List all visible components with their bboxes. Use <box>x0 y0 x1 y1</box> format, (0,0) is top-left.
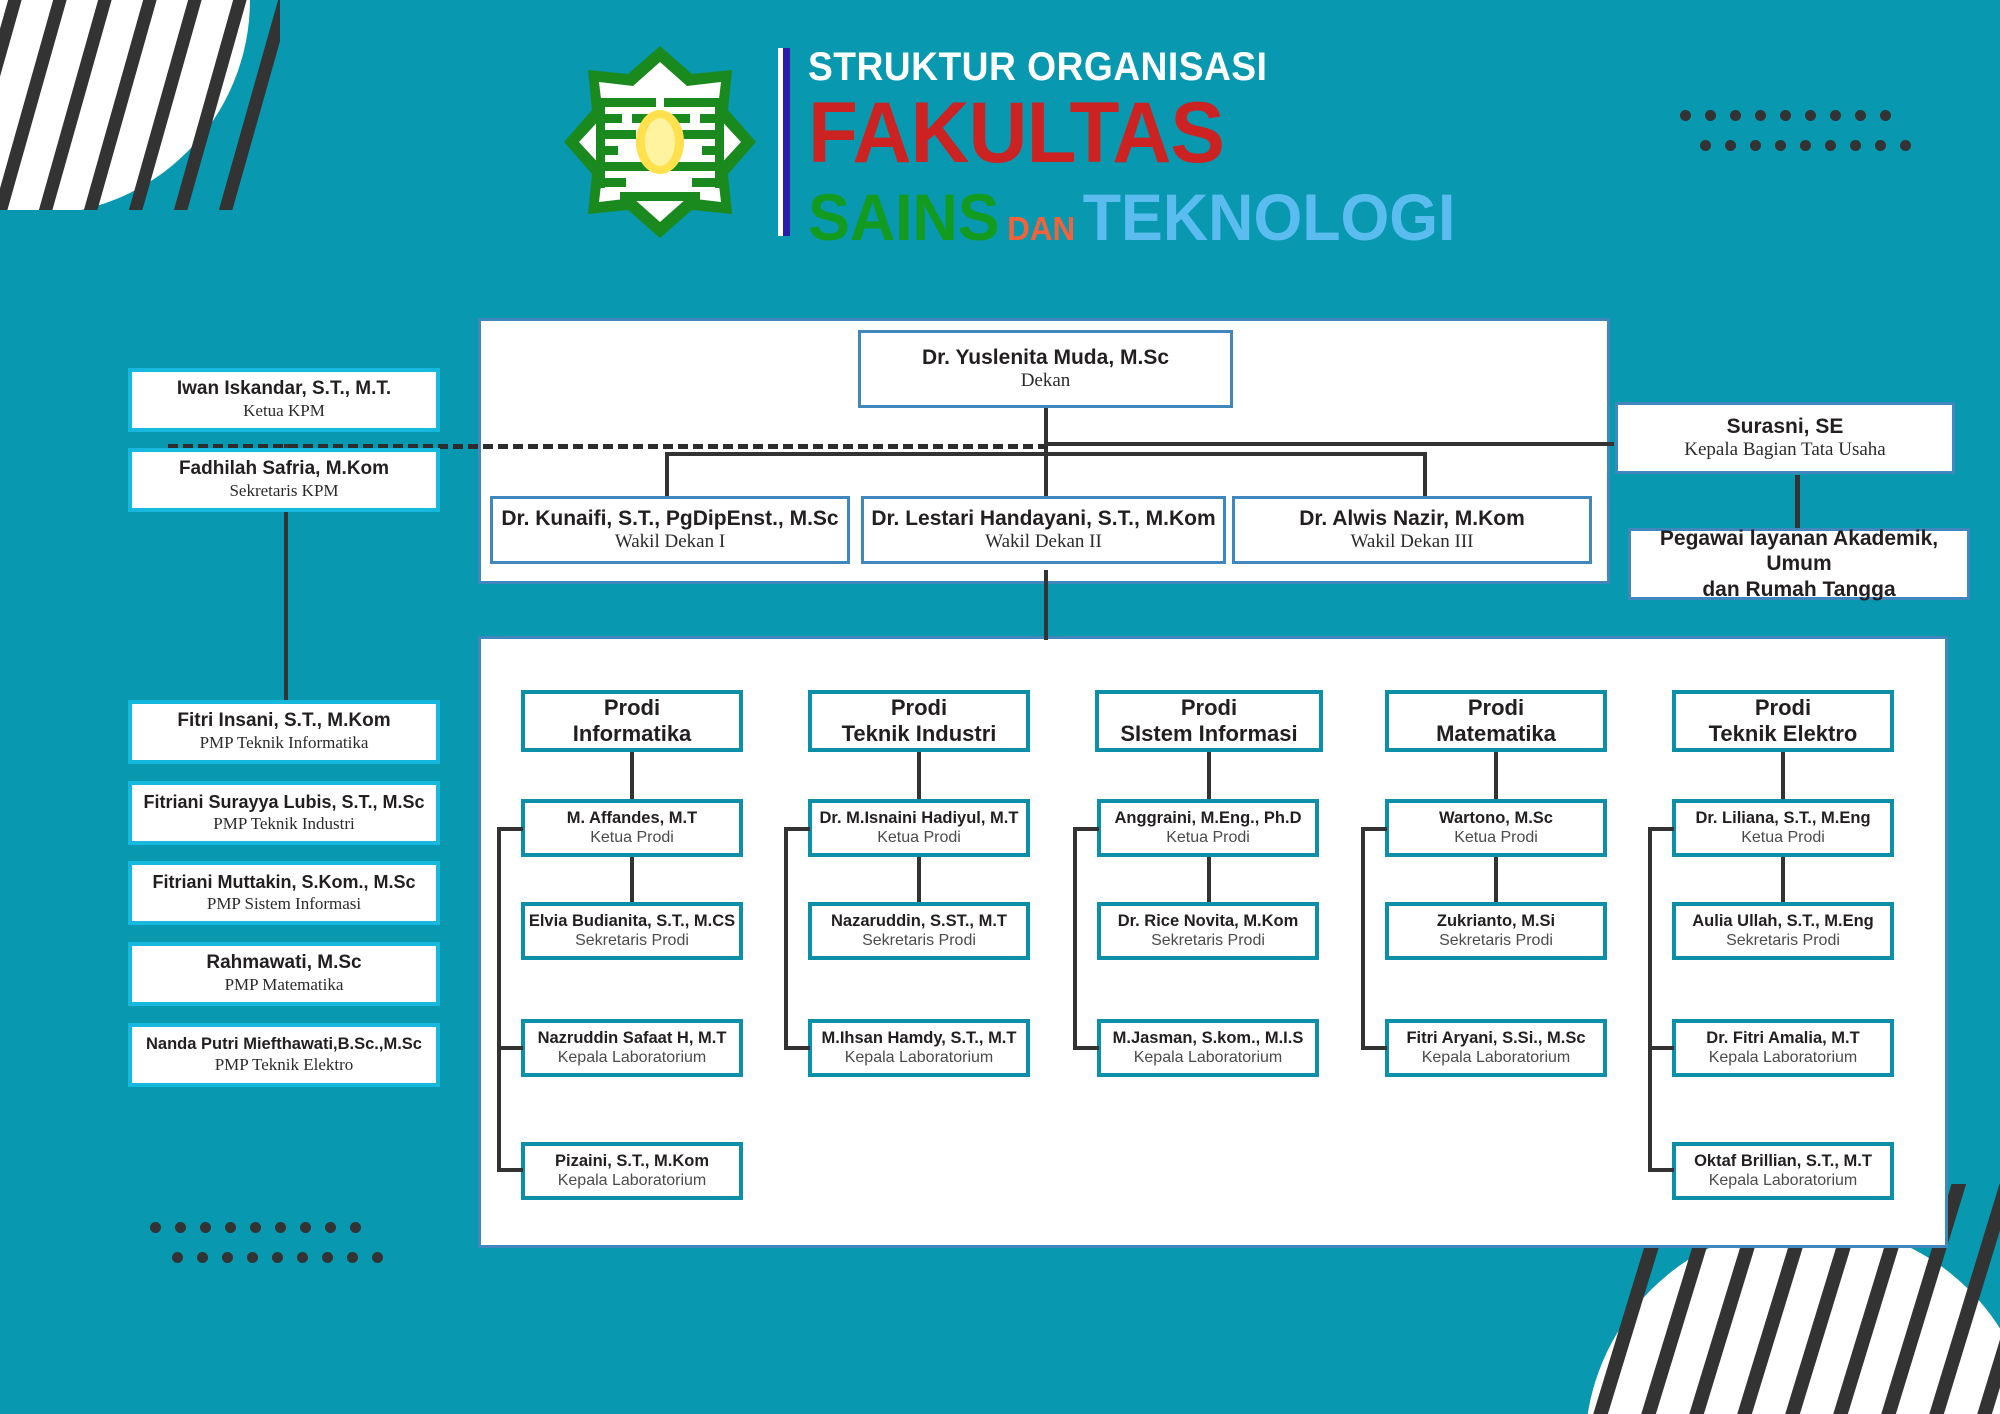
decorative-dot <box>372 1252 383 1263</box>
decorative-dot <box>1730 110 1741 121</box>
node-p0s0-name: M. Affandes, M.T <box>567 809 697 829</box>
node-prodi4-ketua[interactable]: Dr. Liliana, S.T., M.Eng Ketua Prodi <box>1672 799 1894 857</box>
poster-header: STRUKTUR ORGANISASI FAKULTAS SAINS DAN T… <box>560 42 1490 250</box>
decorative-dot <box>325 1222 336 1233</box>
decorative-dot <box>1705 110 1716 121</box>
decorative-dot <box>225 1222 236 1233</box>
connector-prodi1-spine-top <box>784 827 810 831</box>
node-tata-usaha-name: Surasni, SE <box>1727 414 1844 439</box>
node-p1s2-name: M.Ihsan Hamdy, S.T., M.T <box>822 1029 1017 1049</box>
prodi-2-title1: Prodi <box>1181 695 1237 721</box>
node-prodi0-lab1[interactable]: Nazruddin Safaat H, M.T Kepala Laborator… <box>521 1019 743 1077</box>
uin-suska-riau-logo-icon <box>560 42 760 242</box>
node-prodi1-lab1[interactable]: M.Ihsan Hamdy, S.T., M.T Kepala Laborato… <box>808 1019 1030 1077</box>
connector-prodi1-s1 <box>917 857 921 902</box>
connector-prodi4-head <box>1781 752 1785 799</box>
node-p0s3-role: Kepala Laboratorium <box>558 1171 707 1190</box>
prodi-header-teknik-industri[interactable]: Prodi Teknik Industri <box>808 690 1030 752</box>
node-p0s1-name: Elvia Budianita, S.T., M.CS <box>529 912 735 932</box>
node-p1s0-role: Ketua Prodi <box>877 828 961 847</box>
node-prodi0-ketua[interactable]: M. Affandes, M.T Ketua Prodi <box>521 799 743 857</box>
decorative-dot <box>1800 140 1811 151</box>
node-prodi2-sekretaris[interactable]: Dr. Rice Novita, M.Kom Sekretaris Prodi <box>1097 902 1319 960</box>
node-pmp-3-role: PMP Matematika <box>225 975 344 995</box>
decorative-dot <box>172 1252 183 1263</box>
decorative-dot <box>1850 140 1861 151</box>
connector-prodi4-spine-lab2 <box>1648 1168 1674 1172</box>
prodi-0-title2: Informatika <box>573 721 692 747</box>
decorative-stripes-top-left <box>0 0 280 210</box>
node-pmp-teknik-elektro[interactable]: Nanda Putri Miefthawati,B.Sc.,M.Sc PMP T… <box>128 1023 440 1087</box>
node-p3s0-name: Wartono, M.Sc <box>1439 809 1553 829</box>
connector-tatausaha-to-pegawai <box>1795 475 1800 528</box>
decorative-dot <box>1900 140 1911 151</box>
node-p2s0-name: Anggraini, M.Eng., Ph.D <box>1115 809 1302 829</box>
node-wd2-name: Dr. Lestari Handayani, S.T., M.Kom <box>871 506 1215 531</box>
node-wd2-role: Wakil Dekan II <box>985 531 1102 554</box>
node-wd3-role: Wakil Dekan III <box>1351 531 1474 554</box>
node-pegawai-line2: dan Rumah Tangga <box>1702 577 1895 602</box>
node-pegawai-layanan[interactable]: Pegawai layanan Akademik, Umum dan Rumah… <box>1628 528 1970 600</box>
prodi-1-title2: Teknik Industri <box>842 721 997 747</box>
node-pmp-0-name: Fitri Insani, S.T., M.Kom <box>177 710 390 733</box>
node-p2s1-role: Sekretaris Prodi <box>1151 931 1265 950</box>
prodi-4-title1: Prodi <box>1755 695 1811 721</box>
connector-prodi4-spine <box>1648 827 1652 1172</box>
node-p4s2-role: Kepala Laboratorium <box>1709 1048 1858 1067</box>
node-pmp-4-name: Nanda Putri Miefthawati,B.Sc.,M.Sc <box>146 1035 422 1055</box>
node-prodi4-lab2[interactable]: Oktaf Brillian, S.T., M.T Kepala Laborat… <box>1672 1142 1894 1200</box>
connector-prodi0-head <box>630 752 634 799</box>
node-p4s3-name: Oktaf Brillian, S.T., M.T <box>1694 1152 1872 1172</box>
prodi-2-title2: SIstem Informasi <box>1120 721 1297 747</box>
prodi-header-teknik-elektro[interactable]: Prodi Teknik Elektro <box>1672 690 1894 752</box>
node-wakil-dekan-3[interactable]: Dr. Alwis Nazir, M.Kom Wakil Dekan III <box>1232 496 1592 564</box>
node-prodi2-ketua[interactable]: Anggraini, M.Eng., Ph.D Ketua Prodi <box>1097 799 1319 857</box>
connector-dekan-to-prodi <box>1044 570 1048 640</box>
connector-prodi1-spine <box>784 827 788 1049</box>
decorative-dot <box>1830 110 1841 121</box>
node-dekan-name: Dr. Yuslenita Muda, M.Sc <box>922 345 1169 370</box>
connector-prodi2-head <box>1207 752 1211 799</box>
node-wd1-name: Dr. Kunaifi, S.T., PgDipEnst., M.Sc <box>501 506 838 531</box>
decorative-dot <box>1725 140 1736 151</box>
node-p0s0-role: Ketua Prodi <box>590 828 674 847</box>
connector-prodi0-spine-lab1 <box>497 1046 523 1050</box>
connector-tatausaha-horizontal <box>1044 442 1614 446</box>
decorative-dot <box>250 1222 261 1233</box>
prodi-3-title1: Prodi <box>1468 695 1524 721</box>
node-prodi3-sekretaris[interactable]: Zukrianto, M.Si Sekretaris Prodi <box>1385 902 1607 960</box>
connector-prodi1-spine-lab1 <box>784 1046 810 1050</box>
node-pmp-teknik-industri[interactable]: Fitriani Surayya Lubis, S.T., M.Sc PMP T… <box>128 781 440 845</box>
connector-prodi2-spine <box>1073 827 1077 1049</box>
node-sekretaris-kpm-role: Sekretaris KPM <box>229 481 338 501</box>
header-title-fakultas: FAKULTAS <box>808 90 1455 176</box>
prodi-header-sistem-informasi[interactable]: Prodi SIstem Informasi <box>1095 690 1323 752</box>
node-pmp-informatika[interactable]: Fitri Insani, S.T., M.Kom PMP Teknik Inf… <box>128 700 440 764</box>
decorative-dot <box>222 1252 233 1263</box>
decorative-dot <box>1775 140 1786 151</box>
node-prodi4-lab1[interactable]: Dr. Fitri Amalia, M.T Kepala Laboratoriu… <box>1672 1019 1894 1077</box>
header-accent-bar <box>778 48 790 236</box>
decorative-dot <box>150 1222 161 1233</box>
connector-prodi3-spine-top <box>1361 827 1387 831</box>
prodi-1-title1: Prodi <box>891 695 947 721</box>
decorative-dot <box>197 1252 208 1263</box>
node-p3s1-role: Sekretaris Prodi <box>1439 931 1553 950</box>
node-sekretaris-kpm[interactable]: Fadhilah Safria, M.Kom Sekretaris KPM <box>128 448 440 512</box>
node-p4s3-role: Kepala Laboratorium <box>1709 1171 1858 1190</box>
header-subtitle: STRUKTUR ORGANISASI <box>808 46 1442 88</box>
connector-wd2-down <box>1044 452 1048 496</box>
connector-prodi4-spine-lab1 <box>1648 1046 1674 1050</box>
decorative-dots-top-right-2 <box>1700 140 1911 151</box>
decorative-dot <box>1875 140 1886 151</box>
decorative-dot <box>1750 140 1761 151</box>
node-p2s1-name: Dr. Rice Novita, M.Kom <box>1118 912 1299 932</box>
node-p4s1-name: Aulia Ullah, S.T., M.Eng <box>1692 912 1874 932</box>
decorative-dot <box>1825 140 1836 151</box>
node-p2s0-role: Ketua Prodi <box>1166 828 1250 847</box>
connector-prodi0-spine-top <box>497 827 523 831</box>
node-prodi3-ketua[interactable]: Wartono, M.Sc Ketua Prodi <box>1385 799 1607 857</box>
node-pmp-1-name: Fitriani Surayya Lubis, S.T., M.Sc <box>143 792 424 814</box>
header-title-dan: DAN <box>1007 212 1075 245</box>
organization-chart-poster: STRUKTUR ORGANISASI FAKULTAS SAINS DAN T… <box>0 0 2000 1414</box>
node-p4s1-role: Sekretaris Prodi <box>1726 931 1840 950</box>
connector-prodi4-spine-top <box>1648 827 1674 831</box>
connector-prodi2-spine-lab1 <box>1073 1046 1099 1050</box>
node-pmp-3-name: Rahmawati, M.Sc <box>206 952 361 975</box>
header-title-sains: SAINS <box>808 184 1000 250</box>
connector-prodi4-s1 <box>1781 857 1785 902</box>
decorative-dot <box>300 1222 311 1233</box>
node-pmp-4-role: PMP Teknik Elektro <box>215 1055 354 1075</box>
decorative-dot <box>1880 110 1891 121</box>
decorative-dot <box>1805 110 1816 121</box>
connector-prodi3-spine-lab1 <box>1361 1046 1387 1050</box>
connector-prodi0-spine-lab2 <box>497 1168 523 1172</box>
prodi-header-matematika[interactable]: Prodi Matematika <box>1385 690 1607 752</box>
node-pmp-sistem-informasi[interactable]: Fitriani Muttakin, S.Kom., M.Sc PMP Sist… <box>128 861 440 925</box>
node-prodi1-sekretaris[interactable]: Nazaruddin, S.ST., M.T Sekretaris Prodi <box>808 902 1030 960</box>
connector-prodi2-s1 <box>1207 857 1211 902</box>
node-prodi3-lab1[interactable]: Fitri Aryani, S.Si., M.Sc Kepala Laborat… <box>1385 1019 1607 1077</box>
node-p0s1-role: Sekretaris Prodi <box>575 931 689 950</box>
connector-prodi2-spine-top <box>1073 827 1099 831</box>
decorative-dots-bottom-left-2 <box>172 1252 383 1263</box>
node-kepala-tata-usaha[interactable]: Surasni, SE Kepala Bagian Tata Usaha <box>1615 402 1955 474</box>
node-wd1-role: Wakil Dekan I <box>615 531 725 554</box>
node-pegawai-line1: Pegawai layanan Akademik, Umum <box>1631 526 1967 576</box>
node-dekan-role: Dekan <box>1021 370 1071 393</box>
node-p0s2-name: Nazruddin Safaat H, M.T <box>538 1029 727 1049</box>
prodi-header-informatika[interactable]: Prodi Informatika <box>521 690 743 752</box>
connector-prodi3-head <box>1494 752 1498 799</box>
connector-prodi1-head <box>917 752 921 799</box>
prodi-0-title1: Prodi <box>604 695 660 721</box>
connector-prodi3-spine <box>1361 827 1365 1049</box>
decorative-dot <box>1755 110 1766 121</box>
node-tata-usaha-role: Kepala Bagian Tata Usaha <box>1684 439 1885 462</box>
node-p3s1-name: Zukrianto, M.Si <box>1437 912 1555 932</box>
prodi-3-title2: Matematika <box>1436 721 1556 747</box>
node-p0s3-name: Pizaini, S.T., M.Kom <box>555 1152 709 1172</box>
decorative-dot <box>297 1252 308 1263</box>
node-prodi0-sekretaris[interactable]: Elvia Budianita, S.T., M.CS Sekretaris P… <box>521 902 743 960</box>
node-wakil-dekan-2[interactable]: Dr. Lestari Handayani, S.T., M.Kom Wakil… <box>861 496 1226 564</box>
node-p3s2-name: Fitri Aryani, S.Si., M.Sc <box>1406 1029 1585 1049</box>
connector-prodi0-s1 <box>630 857 634 902</box>
node-p3s2-role: Kepala Laboratorium <box>1422 1048 1571 1067</box>
node-p1s2-role: Kepala Laboratorium <box>845 1048 994 1067</box>
node-p0s2-role: Kepala Laboratorium <box>558 1048 707 1067</box>
connector-prodi3-s1 <box>1494 857 1498 902</box>
decorative-dot <box>175 1222 186 1233</box>
decorative-dot <box>350 1222 361 1233</box>
connector-wd1-down <box>665 452 669 496</box>
node-pmp-0-role: PMP Teknik Informatika <box>200 733 369 753</box>
node-p1s1-name: Nazaruddin, S.ST., M.T <box>831 912 1007 932</box>
decorative-dot <box>200 1222 211 1233</box>
node-wakil-dekan-1[interactable]: Dr. Kunaifi, S.T., PgDipEnst., M.Sc Waki… <box>490 496 850 564</box>
node-pmp-2-name: Fitriani Muttakin, S.Kom., M.Sc <box>152 872 415 894</box>
node-prodi0-lab2[interactable]: Pizaini, S.T., M.Kom Kepala Laboratorium <box>521 1142 743 1200</box>
node-prodi2-lab1[interactable]: M.Jasman, S.kom., M.I.S Kepala Laborator… <box>1097 1019 1319 1077</box>
decorative-dots-bottom-left <box>150 1222 361 1233</box>
decorative-dots-top-right <box>1680 110 1891 121</box>
node-ketua-kpm-name: Iwan Iskandar, S.T., M.T. <box>177 378 391 401</box>
node-p4s2-name: Dr. Fitri Amalia, M.T <box>1706 1029 1859 1049</box>
decorative-dot <box>1680 110 1691 121</box>
decorative-dot <box>1855 110 1866 121</box>
node-p1s0-name: Dr. M.Isnaini Hadiyul, M.T <box>820 809 1019 829</box>
node-pmp-2-role: PMP Sistem Informasi <box>207 894 361 914</box>
node-wd3-name: Dr. Alwis Nazir, M.Kom <box>1299 506 1525 531</box>
node-p2s2-role: Kepala Laboratorium <box>1134 1048 1283 1067</box>
decorative-dot <box>347 1252 358 1263</box>
decorative-dot <box>1700 140 1711 151</box>
header-title-teknologi: TEKNOLOGI <box>1083 184 1456 250</box>
decorative-dot <box>275 1222 286 1233</box>
node-p4s0-name: Dr. Liliana, S.T., M.Eng <box>1695 809 1870 829</box>
node-prodi1-ketua[interactable]: Dr. M.Isnaini Hadiyul, M.T Ketua Prodi <box>808 799 1030 857</box>
prodi-4-title2: Teknik Elektro <box>1709 721 1858 747</box>
node-pmp-1-role: PMP Teknik Industri <box>213 814 354 834</box>
connector-wd3-down <box>1423 452 1427 496</box>
connector-prodi0-spine <box>497 827 501 1172</box>
node-ketua-kpm[interactable]: Iwan Iskandar, S.T., M.T. Ketua KPM <box>128 368 440 432</box>
node-sekretaris-kpm-name: Fadhilah Safria, M.Kom <box>179 458 389 481</box>
node-ketua-kpm-role: Ketua KPM <box>243 401 325 421</box>
node-p4s0-role: Ketua Prodi <box>1741 828 1825 847</box>
decorative-dot <box>1780 110 1791 121</box>
node-p3s0-role: Ketua Prodi <box>1454 828 1538 847</box>
decorative-dot <box>272 1252 283 1263</box>
node-pmp-matematika[interactable]: Rahmawati, M.Sc PMP Matematika <box>128 942 440 1006</box>
decorative-dot <box>247 1252 258 1263</box>
decorative-dot <box>322 1252 333 1263</box>
node-p2s2-name: M.Jasman, S.kom., M.I.S <box>1113 1029 1304 1049</box>
node-p1s1-role: Sekretaris Prodi <box>862 931 976 950</box>
node-prodi4-sekretaris[interactable]: Aulia Ullah, S.T., M.Eng Sekretaris Prod… <box>1672 902 1894 960</box>
node-dekan[interactable]: Dr. Yuslenita Muda, M.Sc Dekan <box>858 330 1233 408</box>
